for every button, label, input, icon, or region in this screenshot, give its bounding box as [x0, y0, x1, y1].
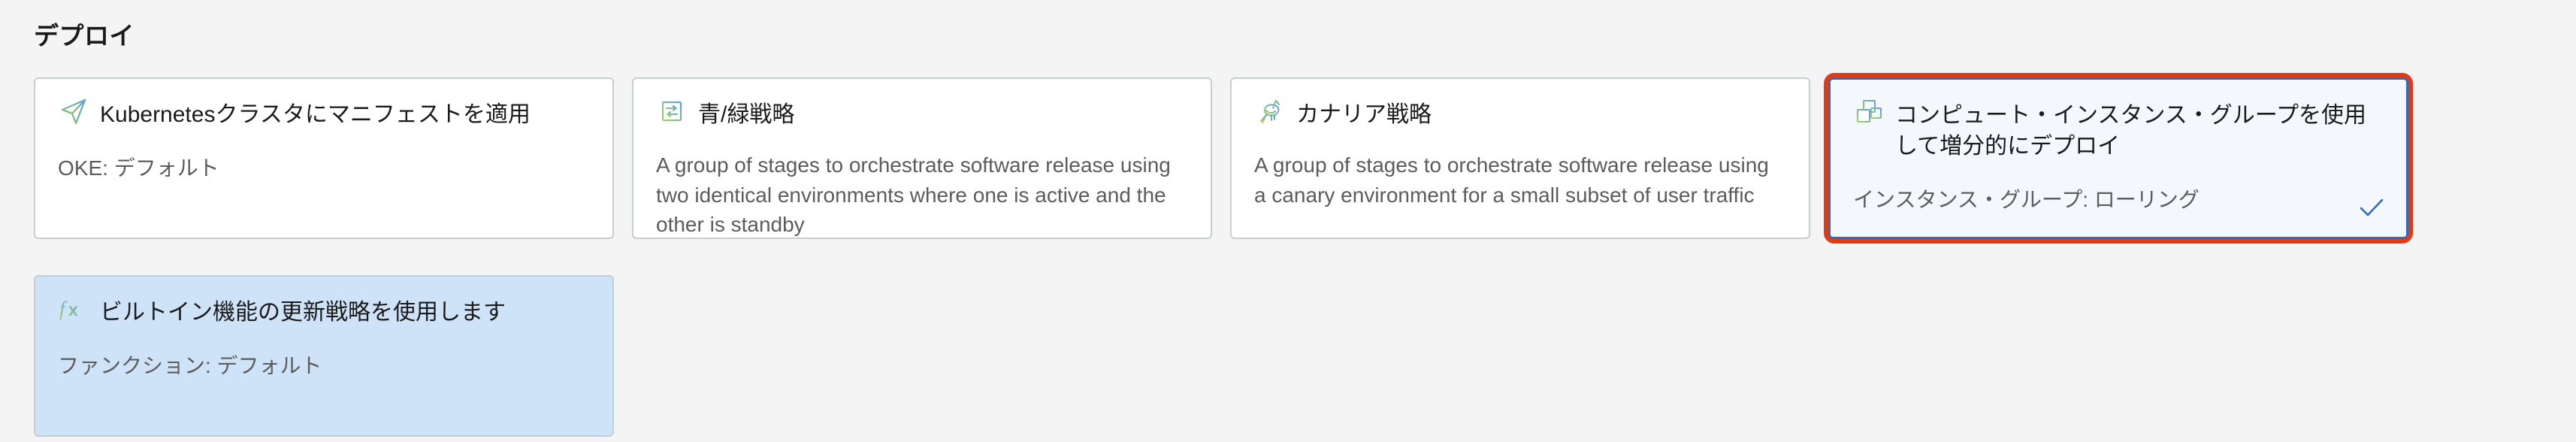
card-description: A group of stages to orchestrate softwar…: [1254, 150, 1780, 210]
card-header: カナリア戦略: [1254, 98, 1786, 131]
deploy-card-grid: Kubernetesクラスタにマニフェストを適用 OKE: デフォルト: [34, 77, 2408, 437]
card-subtitle: OKE: デフォルト: [58, 153, 590, 183]
page-title: デプロイ: [34, 21, 135, 51]
card-header: f x ビルトイン機能の更新戦略を使用します: [58, 296, 590, 328]
instance-group-icon: [1853, 96, 1885, 128]
fx-function-icon: f x: [58, 293, 89, 325]
svg-text:f: f: [59, 298, 68, 320]
svg-text:x: x: [68, 300, 78, 319]
deploy-stage-picker-page: デプロイ Kubernete: [0, 0, 2576, 442]
paper-plane-icon: [58, 95, 89, 127]
card-description: A group of stages to orchestrate softwar…: [656, 150, 1182, 240]
card-title: Kubernetesクラスタにマニフェストを適用: [100, 98, 531, 131]
card-subtitle: インスタンス・グループ: ローリング: [1853, 185, 2384, 214]
deploy-card-blue-green-strategy[interactable]: 青/緑戦略 A group of stages to orchestrate s…: [632, 77, 1212, 239]
canary-bird-icon: [1254, 95, 1286, 127]
deploy-card-apply-manifest-to-kubernetes-cluster[interactable]: Kubernetesクラスタにマニフェストを適用 OKE: デフォルト: [34, 77, 614, 239]
card-title: 青/緑戦略: [698, 98, 794, 131]
card-title: ビルトイン機能の更新戦略を使用します: [100, 296, 506, 328]
deploy-card-incremental-deploy-with-compute-instance-group[interactable]: コンピュート・インスタンス・グループを使用して増分的にデプロイ インスタンス・グ…: [1828, 77, 2408, 239]
card-header: Kubernetesクラスタにマニフェストを適用: [58, 98, 590, 131]
card-title: コンピュート・インスタンス・グループを使用して増分的にデプロイ: [1895, 99, 2384, 162]
deploy-card-canary-strategy[interactable]: カナリア戦略 A group of stages to orchestrate …: [1230, 77, 1810, 239]
card-header: コンピュート・インスタンス・グループを使用して増分的にデプロイ: [1853, 99, 2384, 162]
swap-arrows-icon: [656, 95, 688, 127]
card-subtitle: ファンクション: デフォルト: [58, 351, 590, 380]
card-title: カナリア戦略: [1296, 98, 1432, 131]
selected-check-icon: [2357, 193, 2387, 223]
deploy-card-use-builtin-function-update-strategy[interactable]: f x ビルトイン機能の更新戦略を使用します ファンクション: デフォルト: [34, 275, 614, 437]
card-header: 青/緑戦略: [656, 98, 1188, 131]
